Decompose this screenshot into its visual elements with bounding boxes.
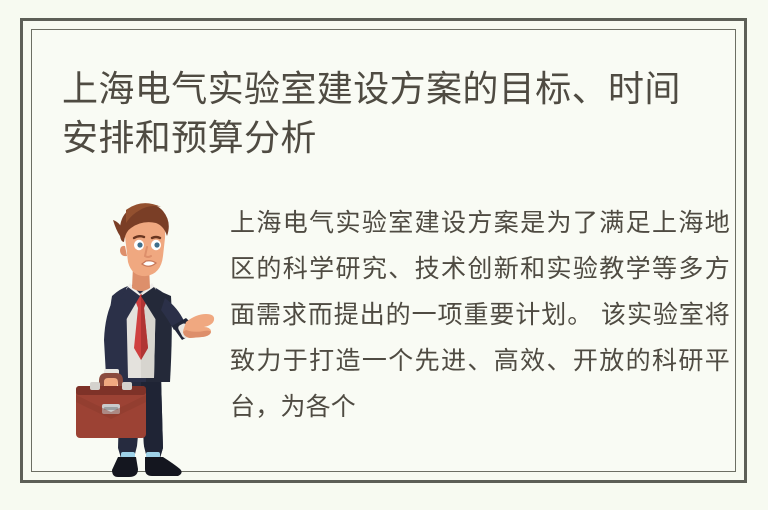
content-card-inner-border: 上海电气实验室建设方案的目标、时间安排和预算分析: [31, 29, 736, 472]
content-card: 上海电气实验室建设方案的目标、时间安排和预算分析: [20, 18, 747, 483]
page-title: 上海电气实验室建设方案的目标、时间安排和预算分析: [62, 64, 710, 162]
article-content: 上海电气实验室建设方案是为了满足上海地区的科学研究、技术创新和实验教学等多方面需…: [32, 178, 735, 471]
businessman-presenting-illustration: [68, 190, 218, 490]
article-body-text: 上海电气实验室建设方案是为了满足上海地区的科学研究、技术创新和实验教学等多方面需…: [230, 200, 730, 430]
